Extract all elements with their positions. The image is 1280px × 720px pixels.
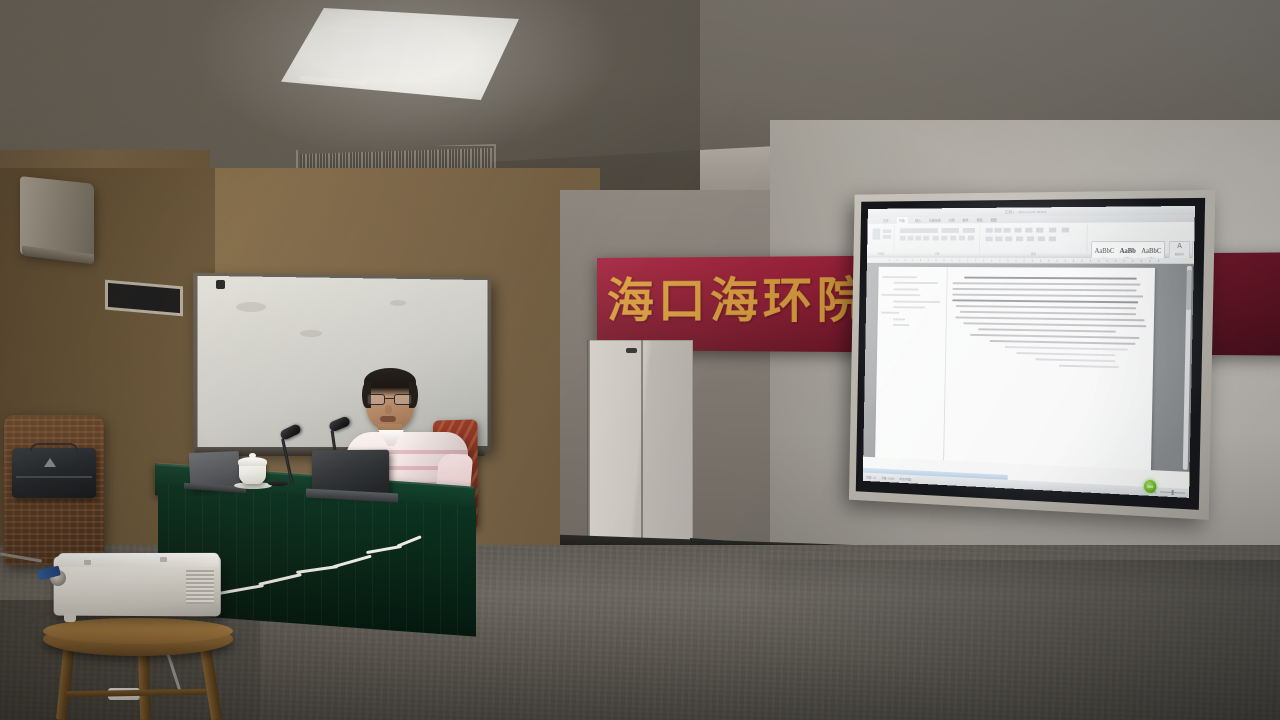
door-handle[interactable] [626, 348, 637, 353]
document-review-margin [875, 267, 948, 464]
document-text-line [1059, 364, 1119, 368]
projector-vent [186, 568, 214, 604]
skirt-fold [338, 497, 339, 627]
tab-file[interactable]: 文件 [883, 218, 889, 223]
skirt-fold [457, 505, 458, 635]
document-text-line [1036, 358, 1115, 362]
document-text-line [952, 299, 1138, 303]
change-styles-label: 更改样式 [1170, 252, 1189, 256]
projector-foot [64, 613, 76, 622]
projection-screen-surface[interactable]: 文档1 - Microsoft Word 文件 开始 插入 页面布局 引用 邮件… [863, 206, 1195, 498]
skirt-fold [440, 504, 441, 634]
skirt-fold [236, 489, 237, 619]
document-text-line [1016, 352, 1115, 357]
glasses-lens [394, 394, 412, 405]
review-margin-line [894, 282, 938, 284]
ribbon-group-label: 字体 [896, 252, 979, 256]
presenter-nose [385, 405, 392, 414]
document-text-line [960, 311, 1136, 316]
microphone-base [268, 481, 288, 486]
review-margin-line [881, 312, 899, 314]
glasses-lens [367, 394, 385, 405]
whiteboard-clip [216, 280, 225, 289]
laptop-bag-zipper [16, 476, 92, 478]
document-text-line [956, 305, 1136, 310]
projector-button[interactable] [160, 557, 167, 562]
projector-button[interactable] [84, 560, 91, 565]
review-margin-line [894, 288, 918, 290]
bag-logo-icon [44, 458, 56, 467]
word-document-title: 文档1 - Microsoft Word [1004, 209, 1046, 215]
document-text-line [978, 328, 1115, 333]
whiteboard-smudge [390, 300, 406, 306]
skirt-fold [253, 490, 254, 620]
glasses-icon [367, 394, 413, 405]
teacup-lid[interactable] [238, 457, 267, 466]
document-text-line [1005, 346, 1128, 351]
skirt-fold [270, 492, 271, 622]
style-sample-text: AaBb [1120, 248, 1136, 255]
status-words: 字数: 4,280 [881, 476, 894, 480]
status-language: 中文(中国) [899, 477, 911, 481]
floor-shadow [760, 560, 1280, 720]
document-body [944, 267, 1155, 472]
letter-a-icon: A [1170, 242, 1190, 252]
skirt-fold [287, 493, 288, 623]
document-page[interactable] [875, 267, 1155, 472]
word-application[interactable]: 文档1 - Microsoft Word 文件 开始 插入 页面布局 引用 邮件… [863, 206, 1195, 498]
projector-top-panel [57, 553, 220, 567]
style-sample-text: AaBbC [1141, 248, 1161, 255]
skirt-fold [304, 494, 305, 624]
skirt-fold [372, 499, 373, 629]
document-canvas[interactable] [863, 263, 1194, 472]
ribbon-group-paragraph[interactable]: 段落 [982, 225, 1088, 256]
review-margin-line [882, 276, 917, 278]
whiteboard-smudge [300, 330, 322, 337]
tab-references[interactable]: 引用 [949, 218, 955, 223]
laptop-bag-handle [30, 443, 78, 451]
door-edge [587, 340, 590, 552]
ruler-ticks [889, 259, 1161, 262]
skirt-fold [355, 498, 356, 628]
tab-view[interactable]: 视图 [990, 217, 996, 222]
tab-mailings[interactable]: 邮件 [962, 218, 968, 223]
review-margin-line [893, 306, 925, 308]
door-seam [641, 340, 643, 552]
review-margin-line [893, 324, 909, 326]
room-scene: 海口海环院环境 文档1 - Microsoft Word 文件 开始 插入 页面… [0, 0, 1280, 720]
ribbon-group-font[interactable]: 字体 [896, 225, 980, 256]
skirt-fold [406, 502, 407, 632]
laptop-screen[interactable] [312, 450, 389, 495]
status-page: 页面: 1/1 [866, 475, 876, 479]
teacup-lid-knob[interactable] [249, 453, 256, 458]
document-text-line [953, 288, 1137, 292]
document-text-line [964, 277, 1137, 280]
ribbon-group-clipboard[interactable]: 剪贴板 [869, 226, 895, 256]
review-margin-line [893, 318, 905, 320]
tab-page-layout[interactable]: 页面布局 [929, 218, 941, 223]
style-sample-text: AaBbC [1095, 248, 1115, 255]
presenter-mouth [380, 416, 396, 422]
document-text-line [971, 334, 1140, 339]
scrollbar-thumb[interactable] [1186, 270, 1192, 310]
review-margin-line [894, 300, 941, 302]
skirt-fold [389, 500, 390, 630]
skirt-fold [321, 495, 322, 625]
document-text-line [953, 282, 1141, 286]
document-text-line [952, 294, 1142, 298]
document-text-line [956, 316, 1144, 321]
ribbon-group-label: 剪贴板 [869, 252, 894, 256]
tab-review[interactable]: 审阅 [976, 217, 982, 222]
glasses-bridge [385, 398, 394, 399]
document-text-line [963, 322, 1146, 327]
skirt-fold [423, 503, 424, 633]
tab-insert[interactable]: 插入 [915, 218, 921, 223]
laptop-bag[interactable] [12, 448, 96, 498]
zoom-slider[interactable] [1160, 491, 1185, 493]
review-margin-line [882, 294, 921, 296]
word-ribbon[interactable]: 剪贴板 字体 [867, 222, 1195, 258]
whiteboard-smudge [236, 302, 266, 312]
ribbon-group-label: 段落 [982, 252, 1087, 256]
document-text-line [990, 340, 1136, 345]
